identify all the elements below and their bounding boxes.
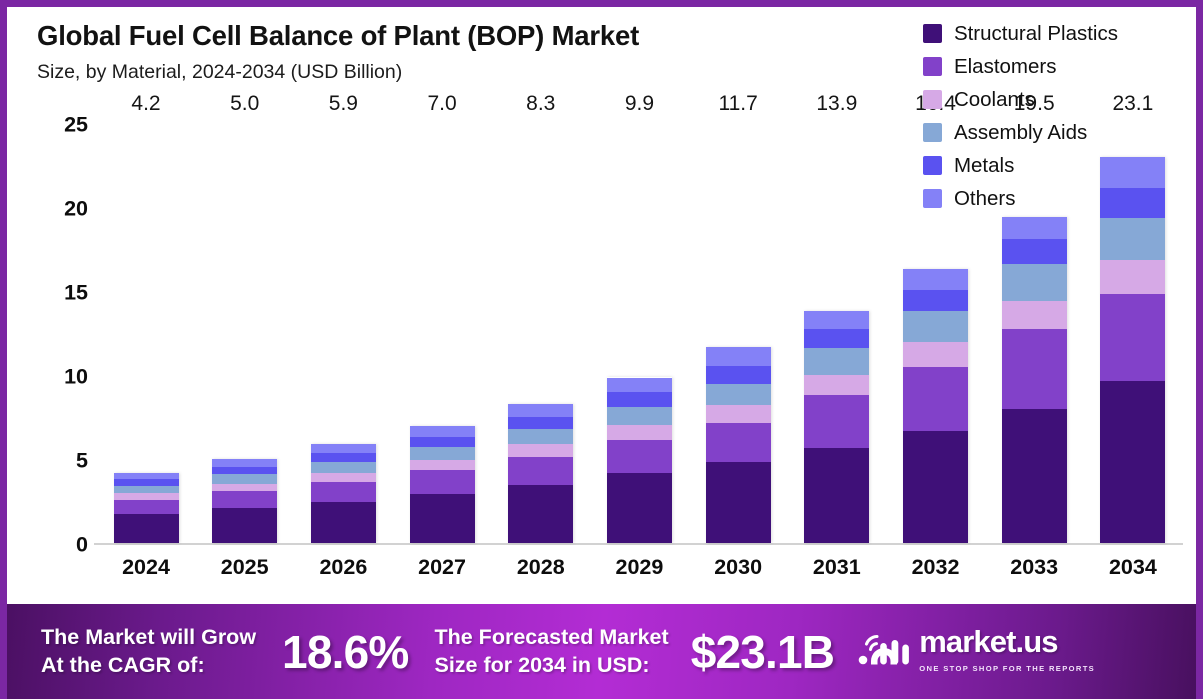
bar-segment[interactable] <box>804 375 869 395</box>
stacked-bar[interactable] <box>607 377 672 543</box>
bar-segment[interactable] <box>607 473 672 543</box>
bar-segment[interactable] <box>311 482 376 502</box>
bar-segment[interactable] <box>1002 264 1067 301</box>
cagr-label-line-1: The Market will Grow <box>41 624 256 652</box>
bar-group[interactable]: 8.3 <box>497 125 585 543</box>
x-axis-tick-label: 2025 <box>201 555 289 580</box>
legend-item[interactable]: Coolants <box>923 85 1118 114</box>
legend-item[interactable]: Elastomers <box>923 52 1118 81</box>
bar-total-label: 7.0 <box>427 92 456 116</box>
bar-segment[interactable] <box>311 444 376 453</box>
bar-segment[interactable] <box>508 404 573 416</box>
header: Global Fuel Cell Balance of Plant (BOP) … <box>37 21 867 84</box>
bar-group[interactable]: 5.9 <box>299 125 387 543</box>
bar-group[interactable]: 4.2 <box>102 125 190 543</box>
bar-segment[interactable] <box>114 514 179 543</box>
bar-segment[interactable] <box>1100 260 1165 293</box>
forecast-label-line-2: Size for 2034 in USD: <box>434 652 668 680</box>
logo-wordmark: market.us <box>919 624 1057 659</box>
bar-segment[interactable] <box>804 348 869 375</box>
bar-segment[interactable] <box>607 392 672 407</box>
bar-segment[interactable] <box>311 502 376 543</box>
bar-segment[interactable] <box>508 417 573 430</box>
y-axis-tick-label: 10 <box>64 365 102 390</box>
bar-total-label: 11.7 <box>718 92 757 116</box>
bar-group[interactable]: 11.7 <box>694 125 782 543</box>
bar-segment[interactable] <box>508 485 573 543</box>
legend-item[interactable]: Others <box>923 184 1118 213</box>
bar-group[interactable]: 9.9 <box>595 125 683 543</box>
bar-group[interactable]: 13.9 <box>793 125 881 543</box>
stacked-bar[interactable] <box>410 426 475 543</box>
x-axis-labels: 2024202520262027202820292030203120322033… <box>102 555 1177 580</box>
x-axis-tick-label: 2029 <box>595 555 683 580</box>
y-axis-tick-label: 5 <box>76 449 102 474</box>
bar-segment[interactable] <box>706 423 771 462</box>
y-axis-tick-label: 25 <box>64 113 102 138</box>
bar-segment[interactable] <box>1100 218 1165 261</box>
legend-item-label: Assembly Aids <box>954 121 1087 145</box>
bar-segment[interactable] <box>508 429 573 444</box>
bar-segment[interactable] <box>804 448 869 543</box>
bar-total-label: 5.9 <box>329 92 358 116</box>
stacked-bar[interactable] <box>212 459 277 543</box>
bar-segment[interactable] <box>1002 329 1067 409</box>
legend-swatch-icon <box>923 24 942 43</box>
bar-segment[interactable] <box>410 437 475 448</box>
x-axis-tick-label: 2028 <box>497 555 585 580</box>
bar-segment[interactable] <box>804 329 869 348</box>
legend-item[interactable]: Assembly Aids <box>923 118 1118 147</box>
stacked-bar[interactable] <box>1002 217 1067 543</box>
logo-text: market.us ONE STOP SHOP FOR THE REPORTS <box>919 627 1182 675</box>
cagr-label-line-2: At the CAGR of: <box>41 652 256 680</box>
bar-segment[interactable] <box>706 347 771 366</box>
legend-item-label: Metals <box>954 154 1014 178</box>
x-axis-tick-label: 2030 <box>694 555 782 580</box>
bar-segment[interactable] <box>410 447 475 460</box>
legend-swatch-icon <box>923 90 942 109</box>
legend-item-label: Coolants <box>954 88 1035 112</box>
bar-segment[interactable] <box>212 474 277 483</box>
market-us-logo[interactable]: market.us ONE STOP SHOP FOR THE REPORTS <box>858 627 1182 675</box>
x-axis-tick-label: 2024 <box>102 555 190 580</box>
bar-segment[interactable] <box>311 462 376 473</box>
logo-tagline: ONE STOP SHOP FOR THE REPORTS <box>919 664 1095 673</box>
bar-total-label: 9.9 <box>625 92 654 116</box>
stacked-bar[interactable] <box>1100 157 1165 543</box>
bar-segment[interactable] <box>804 395 869 448</box>
bar-segment[interactable] <box>903 342 968 366</box>
legend-item[interactable]: Metals <box>923 151 1118 180</box>
x-axis-tick-label: 2031 <box>793 555 881 580</box>
cagr-label: The Market will Grow At the CAGR of: <box>41 624 256 679</box>
bar-segment[interactable] <box>903 290 968 311</box>
footer-banner: The Market will Grow At the CAGR of: 18.… <box>7 604 1196 699</box>
bar-segment[interactable] <box>1002 301 1067 329</box>
bar-segment[interactable] <box>903 367 968 432</box>
bar-segment[interactable] <box>212 467 277 475</box>
bar-segment[interactable] <box>903 311 968 343</box>
stacked-bar[interactable] <box>706 347 771 543</box>
bar-segment[interactable] <box>706 366 771 384</box>
bar-segment[interactable] <box>311 453 376 462</box>
bar-segment[interactable] <box>212 508 277 543</box>
bar-total-label: 4.2 <box>131 92 160 116</box>
legend-item-label: Others <box>954 187 1016 211</box>
forecast-label: The Forecasted Market Size for 2034 in U… <box>434 624 668 679</box>
stacked-bar[interactable] <box>311 444 376 543</box>
page-title: Global Fuel Cell Balance of Plant (BOP) … <box>37 21 867 52</box>
bar-segment[interactable] <box>212 459 277 467</box>
legend-item-label: Structural Plastics <box>954 22 1118 46</box>
bar-segment[interactable] <box>607 440 672 473</box>
legend-swatch-icon <box>923 156 942 175</box>
bar-segment[interactable] <box>903 269 968 290</box>
bar-total-label: 5.0 <box>230 92 259 116</box>
bar-segment[interactable] <box>1002 409 1067 543</box>
bar-segment[interactable] <box>1100 381 1165 543</box>
stacked-bar[interactable] <box>903 269 968 543</box>
bar-segment[interactable] <box>508 444 573 457</box>
x-axis-tick-label: 2033 <box>990 555 1078 580</box>
x-axis-tick-label: 2034 <box>1089 555 1177 580</box>
bar-segment[interactable] <box>410 470 475 493</box>
market-us-logo-icon <box>858 630 910 673</box>
bar-segment[interactable] <box>1100 294 1165 381</box>
legend-swatch-icon <box>923 57 942 76</box>
bar-segment[interactable] <box>903 431 968 543</box>
bar-segment[interactable] <box>1002 217 1067 239</box>
y-axis-tick-label: 20 <box>64 197 102 222</box>
x-axis-tick-label: 2026 <box>299 555 387 580</box>
y-axis-tick-label: 0 <box>76 533 102 558</box>
bar-total-label: 23.1 <box>1112 92 1153 116</box>
legend-swatch-icon <box>923 189 942 208</box>
stacked-bar[interactable] <box>508 404 573 543</box>
bar-segment[interactable] <box>706 405 771 423</box>
x-axis-baseline <box>94 543 1183 545</box>
bar-segment[interactable] <box>706 384 771 406</box>
bar-segment[interactable] <box>114 500 179 514</box>
y-axis-tick-label: 15 <box>64 281 102 306</box>
bar-total-label: 13.9 <box>816 92 857 116</box>
infographic-frame: Global Fuel Cell Balance of Plant (BOP) … <box>0 0 1203 699</box>
bar-segment[interactable] <box>607 378 672 393</box>
legend-item-label: Elastomers <box>954 55 1057 79</box>
stacked-bar[interactable] <box>114 473 179 543</box>
bar-group[interactable]: 5.0 <box>201 125 289 543</box>
cagr-value: 18.6% <box>282 625 408 679</box>
bar-segment[interactable] <box>212 484 277 492</box>
x-axis-tick-label: 2032 <box>892 555 980 580</box>
bar-segment[interactable] <box>804 311 869 329</box>
legend-swatch-icon <box>923 123 942 142</box>
stacked-bar[interactable] <box>804 311 869 543</box>
bar-segment[interactable] <box>607 425 672 440</box>
bar-segment[interactable] <box>1002 239 1067 264</box>
page-subtitle: Size, by Material, 2024-2034 (USD Billio… <box>37 61 867 84</box>
bar-total-label: 8.3 <box>526 92 555 116</box>
x-axis-tick-label: 2027 <box>398 555 486 580</box>
bar-segment[interactable] <box>508 457 573 485</box>
bar-segment[interactable] <box>212 491 277 508</box>
bar-segment[interactable] <box>410 460 475 471</box>
forecast-label-line-1: The Forecasted Market <box>434 624 668 652</box>
forecast-value: $23.1B <box>691 625 835 679</box>
bar-segment[interactable] <box>311 473 376 482</box>
chart-legend: Structural PlasticsElastomersCoolantsAss… <box>923 19 1118 213</box>
bar-group[interactable]: 7.0 <box>398 125 486 543</box>
legend-item[interactable]: Structural Plastics <box>923 19 1118 48</box>
bar-segment[interactable] <box>607 407 672 425</box>
bar-segment[interactable] <box>410 494 475 543</box>
bar-segment[interactable] <box>114 486 179 494</box>
bar-segment[interactable] <box>706 462 771 543</box>
bar-segment[interactable] <box>410 426 475 437</box>
